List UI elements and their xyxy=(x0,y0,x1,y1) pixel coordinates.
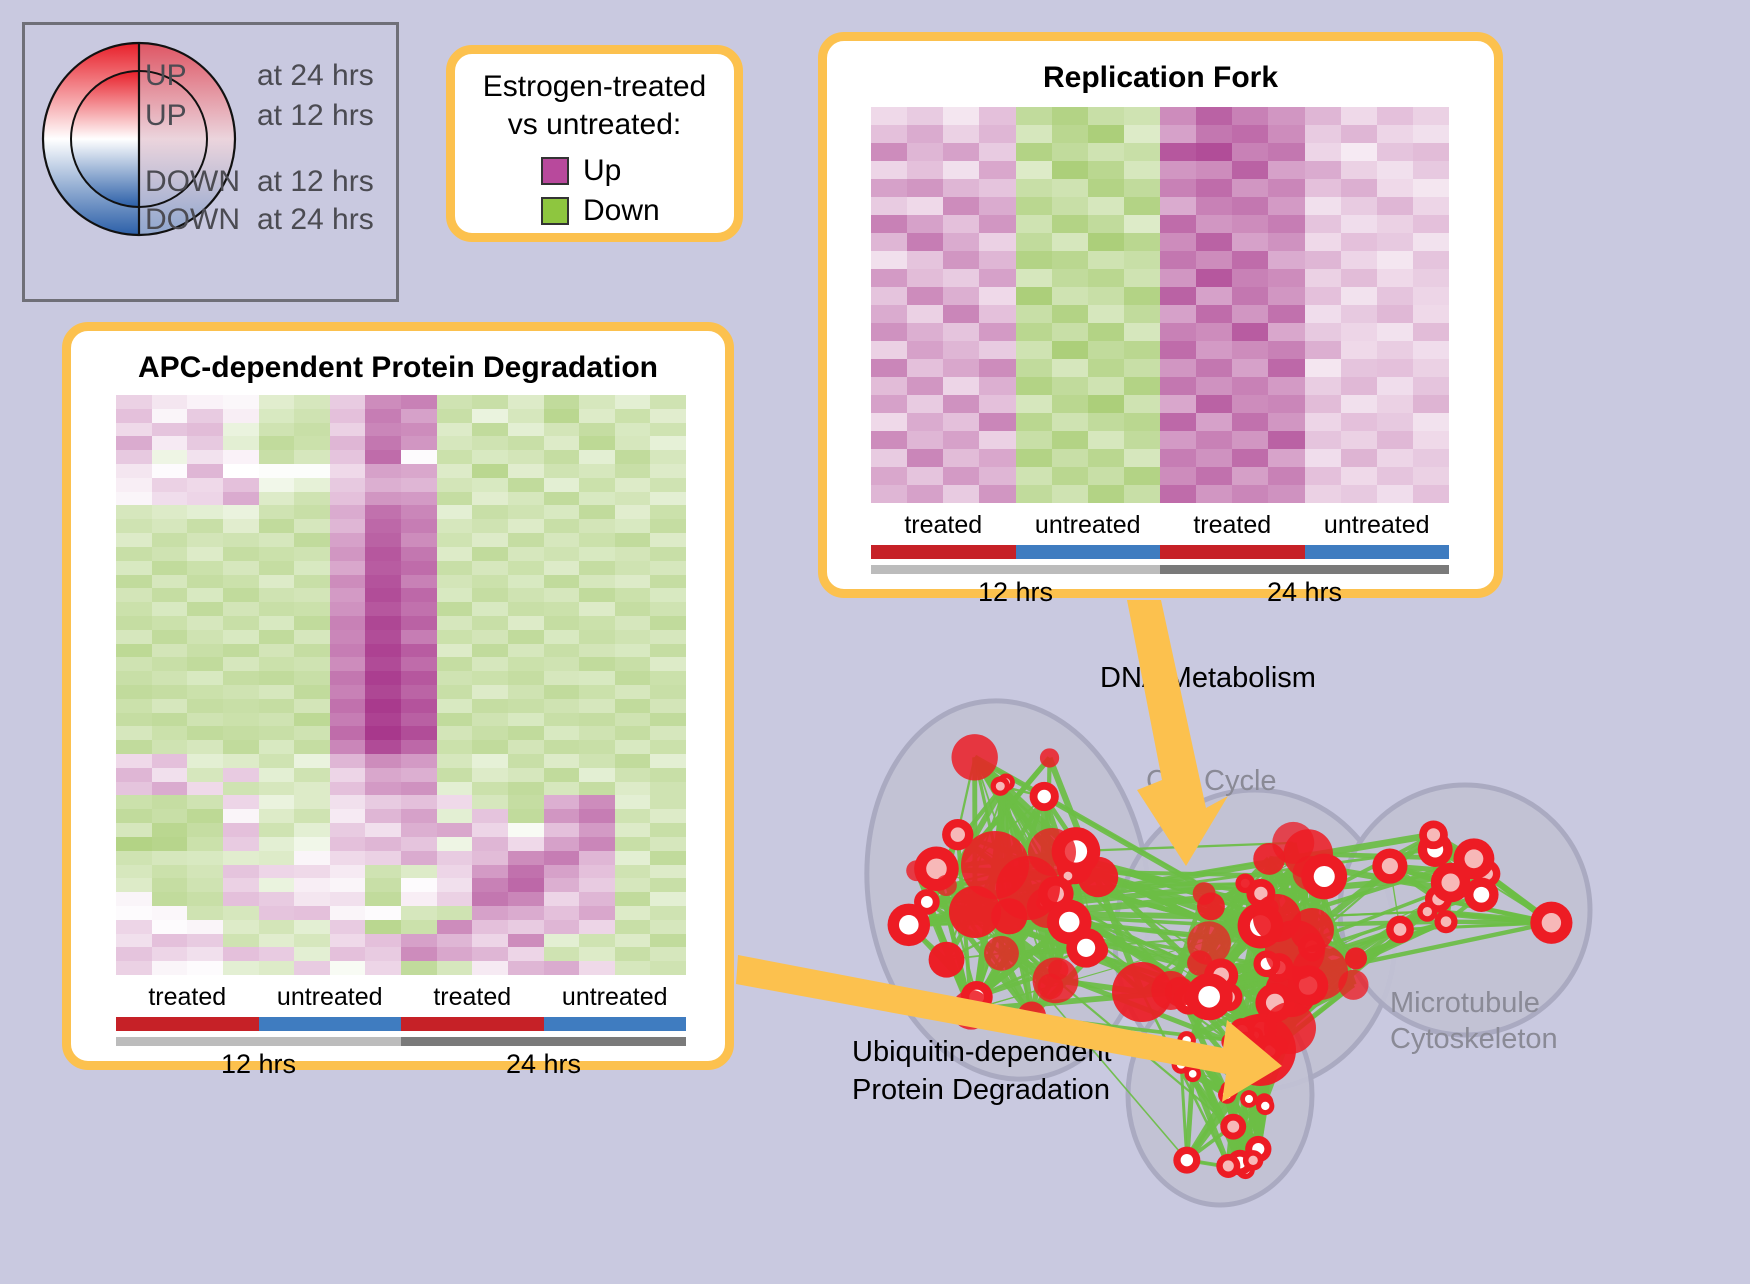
heatmap-cell xyxy=(437,630,473,644)
heatmap-cell xyxy=(472,961,508,975)
heatmap-cell xyxy=(1413,107,1449,125)
heatmap-cell xyxy=(437,561,473,575)
heatmap-cell xyxy=(1016,197,1052,215)
heatmap-cell xyxy=(223,464,259,478)
heatmap-cell xyxy=(294,395,330,409)
heatmap-cell xyxy=(907,269,943,287)
apc-treatment-colorbar xyxy=(116,1017,686,1031)
heatmap-cell xyxy=(943,143,979,161)
heatmap-cell xyxy=(650,878,686,892)
network-node-core xyxy=(1189,1070,1197,1078)
heatmap-cell xyxy=(544,685,580,699)
heatmap-cell xyxy=(1160,125,1196,143)
heatmap-cell xyxy=(187,878,223,892)
heatmap-cell xyxy=(943,215,979,233)
heatmap-cell xyxy=(650,685,686,699)
heatmap-cell xyxy=(187,436,223,450)
heatmap-cell xyxy=(544,423,580,437)
heatmap-cell xyxy=(472,409,508,423)
heatmap-cell xyxy=(871,233,907,251)
heatmap-cell xyxy=(365,906,401,920)
heatmap-cell xyxy=(650,423,686,437)
heatmap-cell xyxy=(1088,125,1124,143)
heatmap-cell xyxy=(544,630,580,644)
heatmap-cell xyxy=(259,588,295,602)
heatmap-cell xyxy=(187,892,223,906)
heatmap-cell xyxy=(615,602,651,616)
heatmap-cell xyxy=(472,547,508,561)
network-node-core xyxy=(1382,858,1398,874)
heatmap-cell xyxy=(871,341,907,359)
heatmap-cell xyxy=(294,409,330,423)
heatmap-cell xyxy=(401,395,437,409)
heatmap-cell xyxy=(330,478,366,492)
heatmap-cell xyxy=(544,409,580,423)
heatmap-cell xyxy=(472,395,508,409)
heatmap-cell xyxy=(579,699,615,713)
heatmap-cell xyxy=(116,740,152,754)
heatmap-cell xyxy=(116,934,152,948)
heatmap-cell xyxy=(365,685,401,699)
heatmap-cell xyxy=(437,865,473,879)
heatmap-cell xyxy=(579,865,615,879)
heatmap-cell xyxy=(1124,395,1160,413)
heatmap-cell xyxy=(1377,413,1413,431)
heatmap-cell xyxy=(1413,431,1449,449)
heatmap-cell xyxy=(294,892,330,906)
heatmap-cell xyxy=(1196,143,1232,161)
heatmap-cell xyxy=(1052,359,1088,377)
heatmap-cell xyxy=(330,768,366,782)
heatmap-cell xyxy=(544,878,580,892)
heatmap-cell xyxy=(943,179,979,197)
heatmap-cell xyxy=(1377,161,1413,179)
heatmap-cell xyxy=(508,657,544,671)
heatmap-cell xyxy=(979,179,1015,197)
network-node-core xyxy=(1198,986,1220,1008)
heatmap-cell xyxy=(1413,413,1449,431)
heatmap-cell xyxy=(907,287,943,305)
heatmap-cell xyxy=(259,685,295,699)
network-node xyxy=(1187,921,1231,965)
estrogen-legend-panel: Estrogen-treated vs untreated: Up Down xyxy=(446,45,743,242)
heatmap-cell xyxy=(401,920,437,934)
heatmap-cell xyxy=(330,671,366,685)
heatmap-cell xyxy=(508,878,544,892)
heatmap-cell xyxy=(116,851,152,865)
apc-time-colorbar xyxy=(116,1037,686,1046)
heatmap-cell xyxy=(650,630,686,644)
heatmap-cell xyxy=(1413,323,1449,341)
heatmap-cell xyxy=(365,436,401,450)
heatmap-cell xyxy=(544,505,580,519)
network-node-core xyxy=(1473,887,1489,903)
heatmap-cell xyxy=(1124,161,1160,179)
heatmap-cell xyxy=(650,713,686,727)
heatmap-cell xyxy=(365,740,401,754)
heatmap-cell xyxy=(187,795,223,809)
heatmap-cell xyxy=(437,395,473,409)
heatmap-cell xyxy=(615,630,651,644)
heatmap-cell xyxy=(943,341,979,359)
heatmap-cell xyxy=(544,726,580,740)
key-direction-label: UP xyxy=(145,99,257,133)
heatmap-cell xyxy=(650,865,686,879)
heatmap-cell xyxy=(223,395,259,409)
heatmap-cell xyxy=(365,423,401,437)
heatmap-cell xyxy=(294,671,330,685)
heatmap-cell xyxy=(1232,467,1268,485)
heatmap-cell xyxy=(152,726,188,740)
heatmap-cell xyxy=(615,644,651,658)
heatmap-cell xyxy=(508,740,544,754)
heatmap-cell xyxy=(907,179,943,197)
heatmap-cell xyxy=(152,685,188,699)
key-direction-label: DOWN xyxy=(145,203,257,237)
heatmap-cell xyxy=(365,699,401,713)
time-bar-segment xyxy=(401,1037,686,1046)
heatmap-cell xyxy=(294,865,330,879)
cluster-label-cell-cycle: Cell Cycle xyxy=(1146,765,1277,798)
heatmap-cell xyxy=(152,657,188,671)
heatmap-cell xyxy=(579,726,615,740)
heatmap-cell xyxy=(615,906,651,920)
heatmap-cell xyxy=(259,575,295,589)
heatmap-cell xyxy=(544,547,580,561)
heatmap-cell xyxy=(907,305,943,323)
heatmap-cell xyxy=(1377,431,1413,449)
heatmap-cell xyxy=(871,395,907,413)
heatmap-cell xyxy=(472,920,508,934)
heatmap-cell xyxy=(1016,233,1052,251)
heatmap-cell xyxy=(615,878,651,892)
heatmap-cell xyxy=(401,464,437,478)
heatmap-cell xyxy=(437,892,473,906)
heatmap-cell xyxy=(1413,305,1449,323)
heatmap-cell xyxy=(1052,323,1088,341)
heatmap-cell xyxy=(223,547,259,561)
heatmap-cell xyxy=(615,837,651,851)
heatmap-cell xyxy=(1413,125,1449,143)
heatmap-cell xyxy=(1052,143,1088,161)
heatmap-cell xyxy=(1196,233,1232,251)
heatmap-cell xyxy=(472,713,508,727)
heatmap-cell xyxy=(1413,359,1449,377)
heatmap-cell xyxy=(650,906,686,920)
heatmap-cell xyxy=(401,505,437,519)
heatmap-cell xyxy=(943,269,979,287)
heatmap-cell xyxy=(1016,395,1052,413)
heatmap-cell xyxy=(1088,341,1124,359)
heatmap-cell xyxy=(615,409,651,423)
heatmap-cell xyxy=(650,851,686,865)
heatmap-cell xyxy=(365,961,401,975)
heatmap-cell xyxy=(259,934,295,948)
heatmap-cell xyxy=(650,492,686,506)
heatmap-cell xyxy=(650,644,686,658)
heatmap-cell xyxy=(330,492,366,506)
heatmap-cell xyxy=(979,143,1015,161)
heatmap-cell xyxy=(1088,107,1124,125)
heatmap-cell xyxy=(1413,341,1449,359)
heatmap-cell xyxy=(472,561,508,575)
heatmap-cell xyxy=(1016,431,1052,449)
group-label: untreated xyxy=(1016,511,1161,540)
network-node-core xyxy=(1441,873,1459,891)
heatmap-cell xyxy=(1377,143,1413,161)
heatmap-cell xyxy=(116,505,152,519)
heatmap-cell xyxy=(152,768,188,782)
heatmap-cell xyxy=(437,575,473,589)
heatmap-cell xyxy=(1232,251,1268,269)
heatmap-cell xyxy=(1196,323,1232,341)
heatmap-cell xyxy=(1160,395,1196,413)
heatmap-cell xyxy=(401,823,437,837)
heatmap-cell xyxy=(472,630,508,644)
heatmap-cell xyxy=(1160,197,1196,215)
heatmap-cell xyxy=(544,934,580,948)
heatmap-cell xyxy=(1052,341,1088,359)
heatmap-cell xyxy=(401,423,437,437)
heatmap-cell xyxy=(259,878,295,892)
heatmap-cell xyxy=(437,423,473,437)
heatmap-cell xyxy=(1305,377,1341,395)
heatmap-cell xyxy=(943,431,979,449)
heatmap-cell xyxy=(1377,251,1413,269)
heatmap-cell xyxy=(365,630,401,644)
heatmap-cell xyxy=(1052,287,1088,305)
heatmap-cell xyxy=(615,685,651,699)
heatmap-cell xyxy=(152,782,188,796)
heatmap-cell xyxy=(1196,485,1232,503)
heatmap-cell xyxy=(907,449,943,467)
heatmap-cell xyxy=(1052,125,1088,143)
heatmap-cell xyxy=(1377,179,1413,197)
heatmap-cell xyxy=(1341,161,1377,179)
heatmap-cell xyxy=(1088,323,1124,341)
heatmap-cell xyxy=(401,934,437,948)
heatmap-cell xyxy=(1124,449,1160,467)
heatmap-cell xyxy=(330,878,366,892)
legend-item-down: Down xyxy=(541,194,660,228)
network-node xyxy=(1038,974,1064,1000)
heatmap-cell xyxy=(1232,449,1268,467)
heatmap-cell xyxy=(223,671,259,685)
heatmap-cell xyxy=(615,961,651,975)
heatmap-cell xyxy=(116,906,152,920)
heatmap-cell xyxy=(979,449,1015,467)
heatmap-cell xyxy=(152,450,188,464)
heatmap-cell xyxy=(1016,413,1052,431)
heatmap-cell xyxy=(615,588,651,602)
heatmap-cell xyxy=(330,740,366,754)
heatmap-cell xyxy=(401,547,437,561)
heatmap-cell xyxy=(579,823,615,837)
heatmap-cell xyxy=(1232,305,1268,323)
heatmap-cell xyxy=(615,726,651,740)
heatmap-cell xyxy=(579,575,615,589)
heatmap-cell xyxy=(187,947,223,961)
heatmap-cell xyxy=(365,878,401,892)
heatmap-cell xyxy=(508,533,544,547)
heatmap-cell xyxy=(579,920,615,934)
heatmap-cell xyxy=(1124,341,1160,359)
heatmap-cell xyxy=(223,657,259,671)
heatmap-cell xyxy=(187,450,223,464)
heatmap-cell xyxy=(1413,251,1449,269)
heatmap-cell xyxy=(401,616,437,630)
heatmap-cell xyxy=(1268,287,1304,305)
heatmap-cell xyxy=(365,395,401,409)
heatmap-cell xyxy=(152,892,188,906)
heatmap-cell xyxy=(1124,485,1160,503)
heatmap-cell xyxy=(294,657,330,671)
heatmap-cell xyxy=(259,671,295,685)
heatmap-cell xyxy=(615,865,651,879)
heatmap-cell xyxy=(907,143,943,161)
heatmap-cell xyxy=(615,492,651,506)
heatmap-cell xyxy=(1232,323,1268,341)
heatmap-cell xyxy=(979,233,1015,251)
heatmap-cell xyxy=(259,561,295,575)
heatmap-cell xyxy=(116,492,152,506)
heatmap-cell xyxy=(116,657,152,671)
network-node-core xyxy=(1441,916,1452,927)
heatmap-cell xyxy=(1305,359,1341,377)
heatmap-cell xyxy=(223,795,259,809)
heatmap-cell xyxy=(1268,413,1304,431)
heatmap-cell xyxy=(1196,197,1232,215)
heatmap-cell xyxy=(116,575,152,589)
heatmap-cell xyxy=(1016,269,1052,287)
heatmap-cell xyxy=(1124,107,1160,125)
heatmap-cell xyxy=(544,740,580,754)
heatmap-cell xyxy=(472,450,508,464)
heatmap-cell xyxy=(508,699,544,713)
heatmap-cell xyxy=(401,699,437,713)
heatmap-cell xyxy=(330,450,366,464)
heatmap-cell xyxy=(1232,233,1268,251)
heatmap-cell xyxy=(979,251,1015,269)
heatmap-cell xyxy=(401,657,437,671)
heatmap-cell xyxy=(116,671,152,685)
heatmap-cell xyxy=(1160,431,1196,449)
heatmap-cell xyxy=(259,657,295,671)
network-node-core xyxy=(1227,1121,1239,1133)
heatmap-cell xyxy=(152,809,188,823)
heatmap-cell xyxy=(437,934,473,948)
heatmap-cell xyxy=(259,395,295,409)
heatmap-cell xyxy=(1160,233,1196,251)
heatmap-cell xyxy=(579,505,615,519)
heatmap-cell xyxy=(1196,377,1232,395)
heatmap-cell xyxy=(401,947,437,961)
heatmap-cell xyxy=(472,754,508,768)
heatmap-cell xyxy=(1160,269,1196,287)
heatmap-cell xyxy=(1160,305,1196,323)
heatmap-cell xyxy=(1124,377,1160,395)
heatmap-cell xyxy=(1016,359,1052,377)
heatmap-cell xyxy=(294,961,330,975)
heatmap-cell xyxy=(871,413,907,431)
heatmap-cell xyxy=(187,713,223,727)
heatmap-cell xyxy=(544,492,580,506)
heatmap-cell xyxy=(152,505,188,519)
heatmap-cell xyxy=(330,782,366,796)
heatmap-cell xyxy=(1341,485,1377,503)
heatmap-cell xyxy=(401,450,437,464)
heatmap-cell xyxy=(1232,197,1268,215)
heatmap-cell xyxy=(615,423,651,437)
heatmap-cell xyxy=(259,505,295,519)
heatmap-cell xyxy=(943,467,979,485)
heatmap-cell xyxy=(1196,125,1232,143)
figure-canvas: UPat 24 hrs UPat 12 hrs DOWNat 12 hrs DO… xyxy=(0,0,1750,1279)
heatmap-cell xyxy=(1088,431,1124,449)
heatmap-cell xyxy=(223,519,259,533)
heatmap-cell xyxy=(871,251,907,269)
heatmap-cell xyxy=(579,809,615,823)
heatmap-cell xyxy=(1052,251,1088,269)
heatmap-cell xyxy=(116,713,152,727)
heatmap-cell xyxy=(187,423,223,437)
heatmap-cell xyxy=(187,464,223,478)
heatmap-cell xyxy=(259,906,295,920)
heatmap-cell xyxy=(187,492,223,506)
heatmap-cell xyxy=(1088,485,1124,503)
heatmap-cell xyxy=(294,644,330,658)
heatmap-cell xyxy=(259,644,295,658)
heatmap-cell xyxy=(508,726,544,740)
heatmap-cell xyxy=(1413,395,1449,413)
heatmap-cell xyxy=(365,409,401,423)
heatmap-cell xyxy=(116,588,152,602)
heatmap-cell xyxy=(579,906,615,920)
heatmap-cell xyxy=(1016,251,1052,269)
heatmap-cell xyxy=(152,851,188,865)
heatmap-cell xyxy=(437,644,473,658)
heatmap-cell xyxy=(1341,215,1377,233)
heatmap-cell xyxy=(1016,125,1052,143)
heatmap-cell xyxy=(1052,485,1088,503)
heatmap-cell xyxy=(365,561,401,575)
heatmap-cell xyxy=(871,467,907,485)
heatmap-cell xyxy=(365,947,401,961)
network-node-core xyxy=(1394,923,1407,936)
treatment-bar-segment xyxy=(259,1017,402,1031)
network-node-core xyxy=(1223,1160,1234,1171)
heatmap-cell xyxy=(615,436,651,450)
heatmap-cell xyxy=(116,409,152,423)
heatmap-cell xyxy=(437,492,473,506)
heatmap-cell xyxy=(1413,467,1449,485)
heatmap-cell xyxy=(330,588,366,602)
heatmap-cell xyxy=(615,809,651,823)
heatmap-cell xyxy=(508,809,544,823)
heatmap-cell xyxy=(1341,269,1377,287)
heatmap-cell xyxy=(437,450,473,464)
heatmap-cell xyxy=(152,616,188,630)
heatmap-cell xyxy=(871,305,907,323)
heatmap-cell xyxy=(294,533,330,547)
heatmap-cell xyxy=(979,215,1015,233)
heatmap-cell xyxy=(979,107,1015,125)
heatmap-cell xyxy=(116,878,152,892)
heatmap-cell xyxy=(615,395,651,409)
heatmap-cell xyxy=(259,602,295,616)
heatmap-cell xyxy=(544,713,580,727)
heatmap-cell xyxy=(187,519,223,533)
